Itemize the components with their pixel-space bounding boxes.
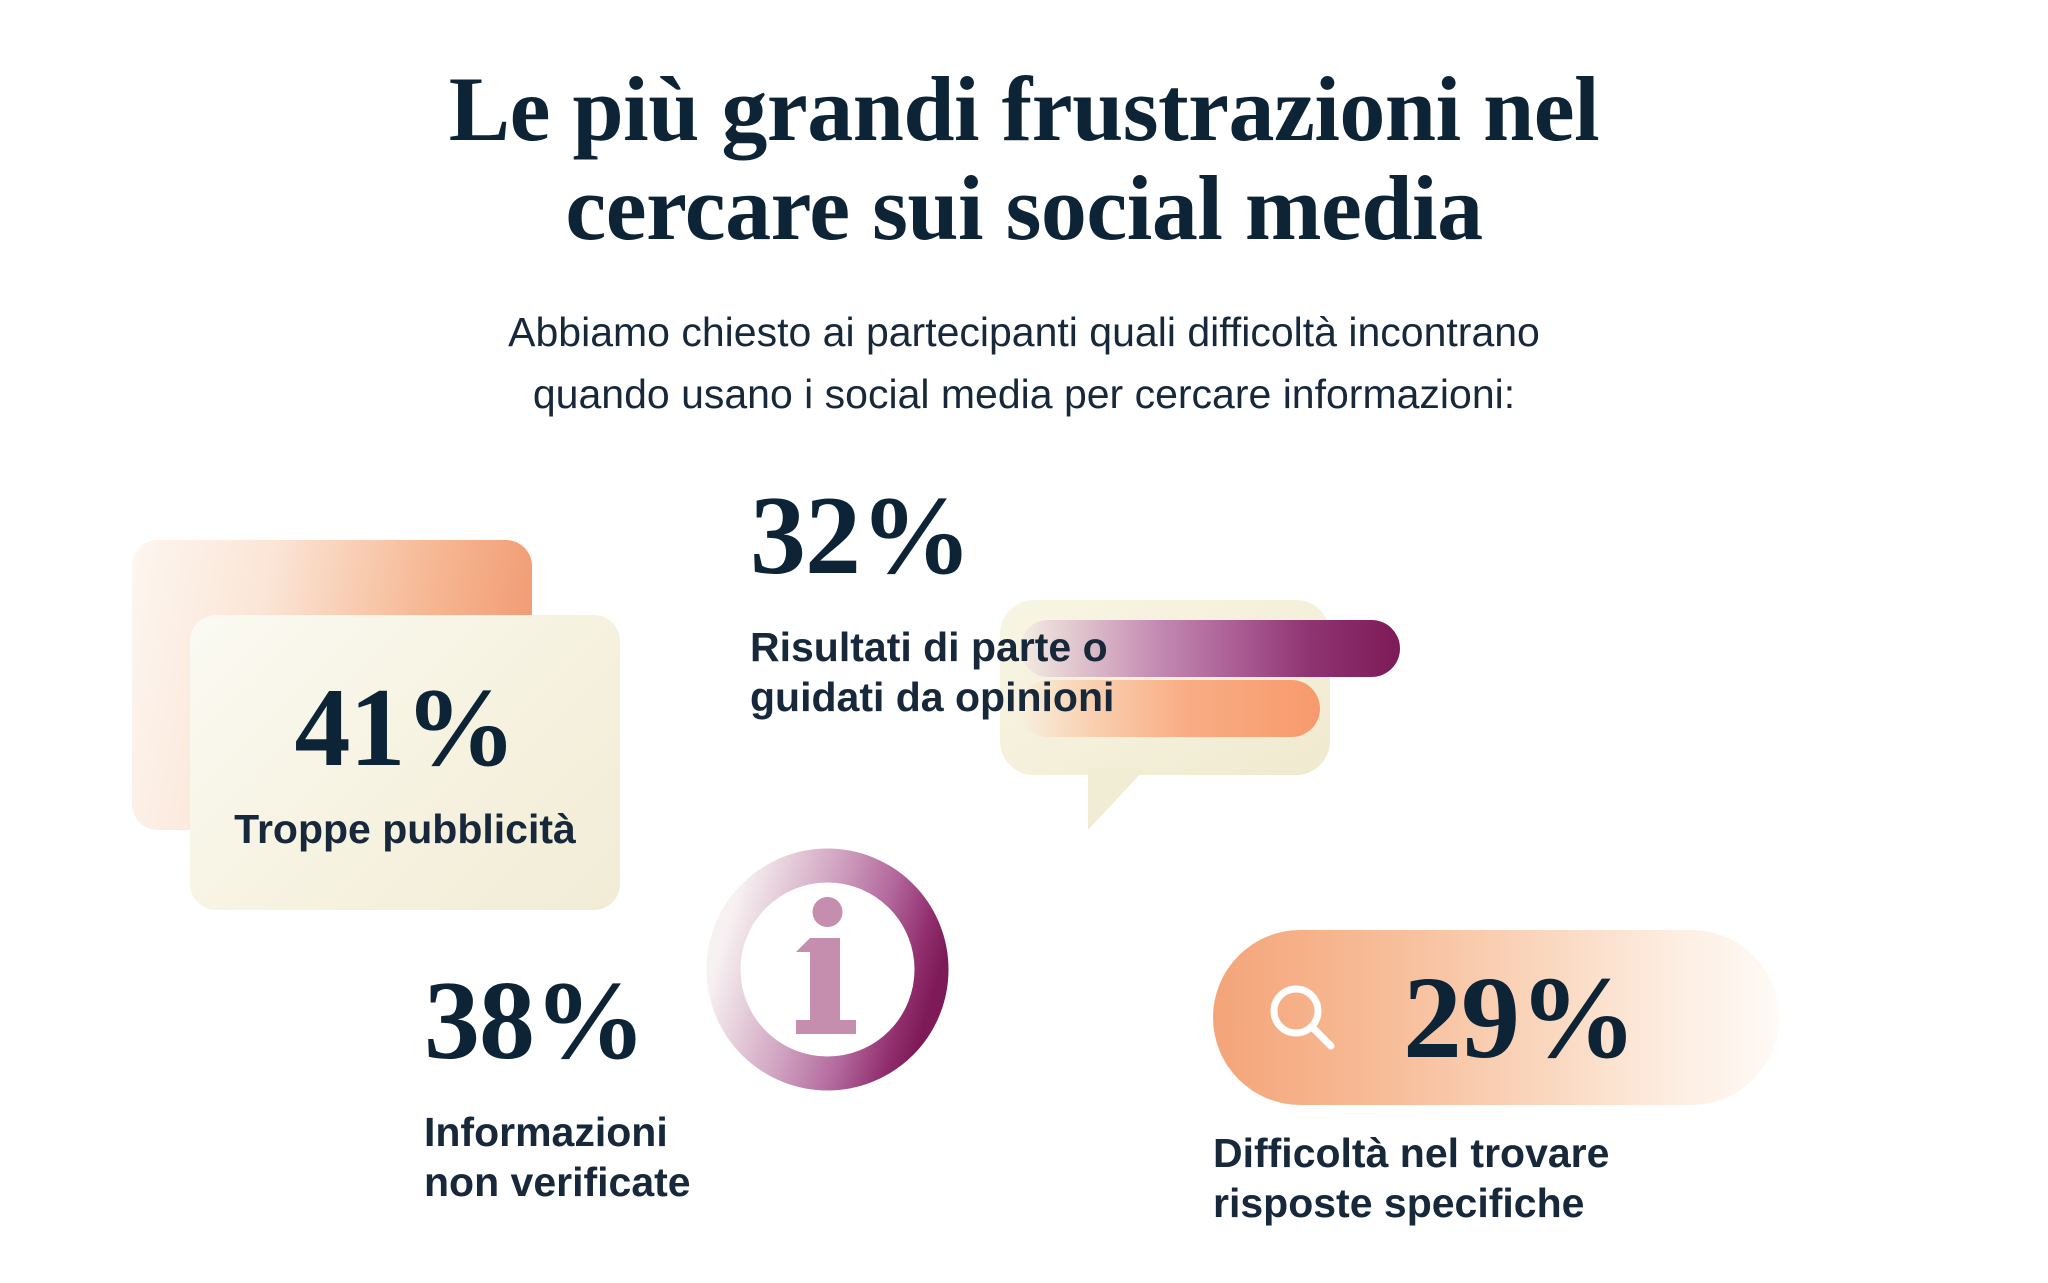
stat-label-32-line-1: Risultati di parte o [750,622,1170,672]
stat-pill-difficolta-risposte: 29% [1213,930,1779,1105]
stat-block-informazioni-non-verificate: 38% Informazioni non verificate [424,965,854,1207]
stat-label-29-line-1: Difficoltà nel trovare [1213,1128,1609,1178]
stat-label-29-line-2: risposte specifiche [1213,1178,1609,1228]
stat-label-38-line-1: Informazioni [424,1107,854,1157]
page-title: Le più grandi frustrazioni nel cercare s… [0,60,2048,259]
stat-block-risultati-di-parte: 32% Risultati di parte o guidati da opin… [1000,600,1850,920]
stat-value-38: 38% [424,965,854,1077]
stat-label-41: Troppe pubblicità [234,806,576,853]
speech-bubble-tail [1088,768,1146,830]
stat-text-32: 32% Risultati di parte o guidati da opin… [750,480,1170,722]
stat-label-38: Informazioni non verificate [424,1107,854,1207]
search-icon [1265,980,1341,1056]
page-subtitle: Abbiamo chiesto ai partecipanti quali di… [0,259,2048,426]
title-line-2: cercare sui social media [420,159,1628,258]
stat-card-troppe-pubblicita: 41% Troppe pubblicità [132,540,632,920]
title-line-1: Le più grandi frustrazioni nel [420,60,1628,159]
subtitle-line-2: quando usano i social media per cercare … [0,363,2048,425]
stat-value-32: 32% [750,480,1170,592]
stat-value-41: 41% [295,672,516,784]
header: Le più grandi frustrazioni nel cercare s… [0,60,2048,425]
subtitle-line-1: Abbiamo chiesto ai partecipanti quali di… [0,301,2048,363]
stat-value-29: 29% [1403,959,1636,1077]
stat-label-29: Difficoltà nel trovare risposte specific… [1213,1128,1609,1228]
stat-label-32-line-2: guidati da opinioni [750,672,1170,722]
stat-label-38-line-2: non verificate [424,1157,854,1207]
card-front: 41% Troppe pubblicità [190,615,620,910]
infographic-canvas: Le più grandi frustrazioni nel cercare s… [0,0,2048,1283]
stat-label-32: Risultati di parte o guidati da opinioni [750,622,1170,722]
